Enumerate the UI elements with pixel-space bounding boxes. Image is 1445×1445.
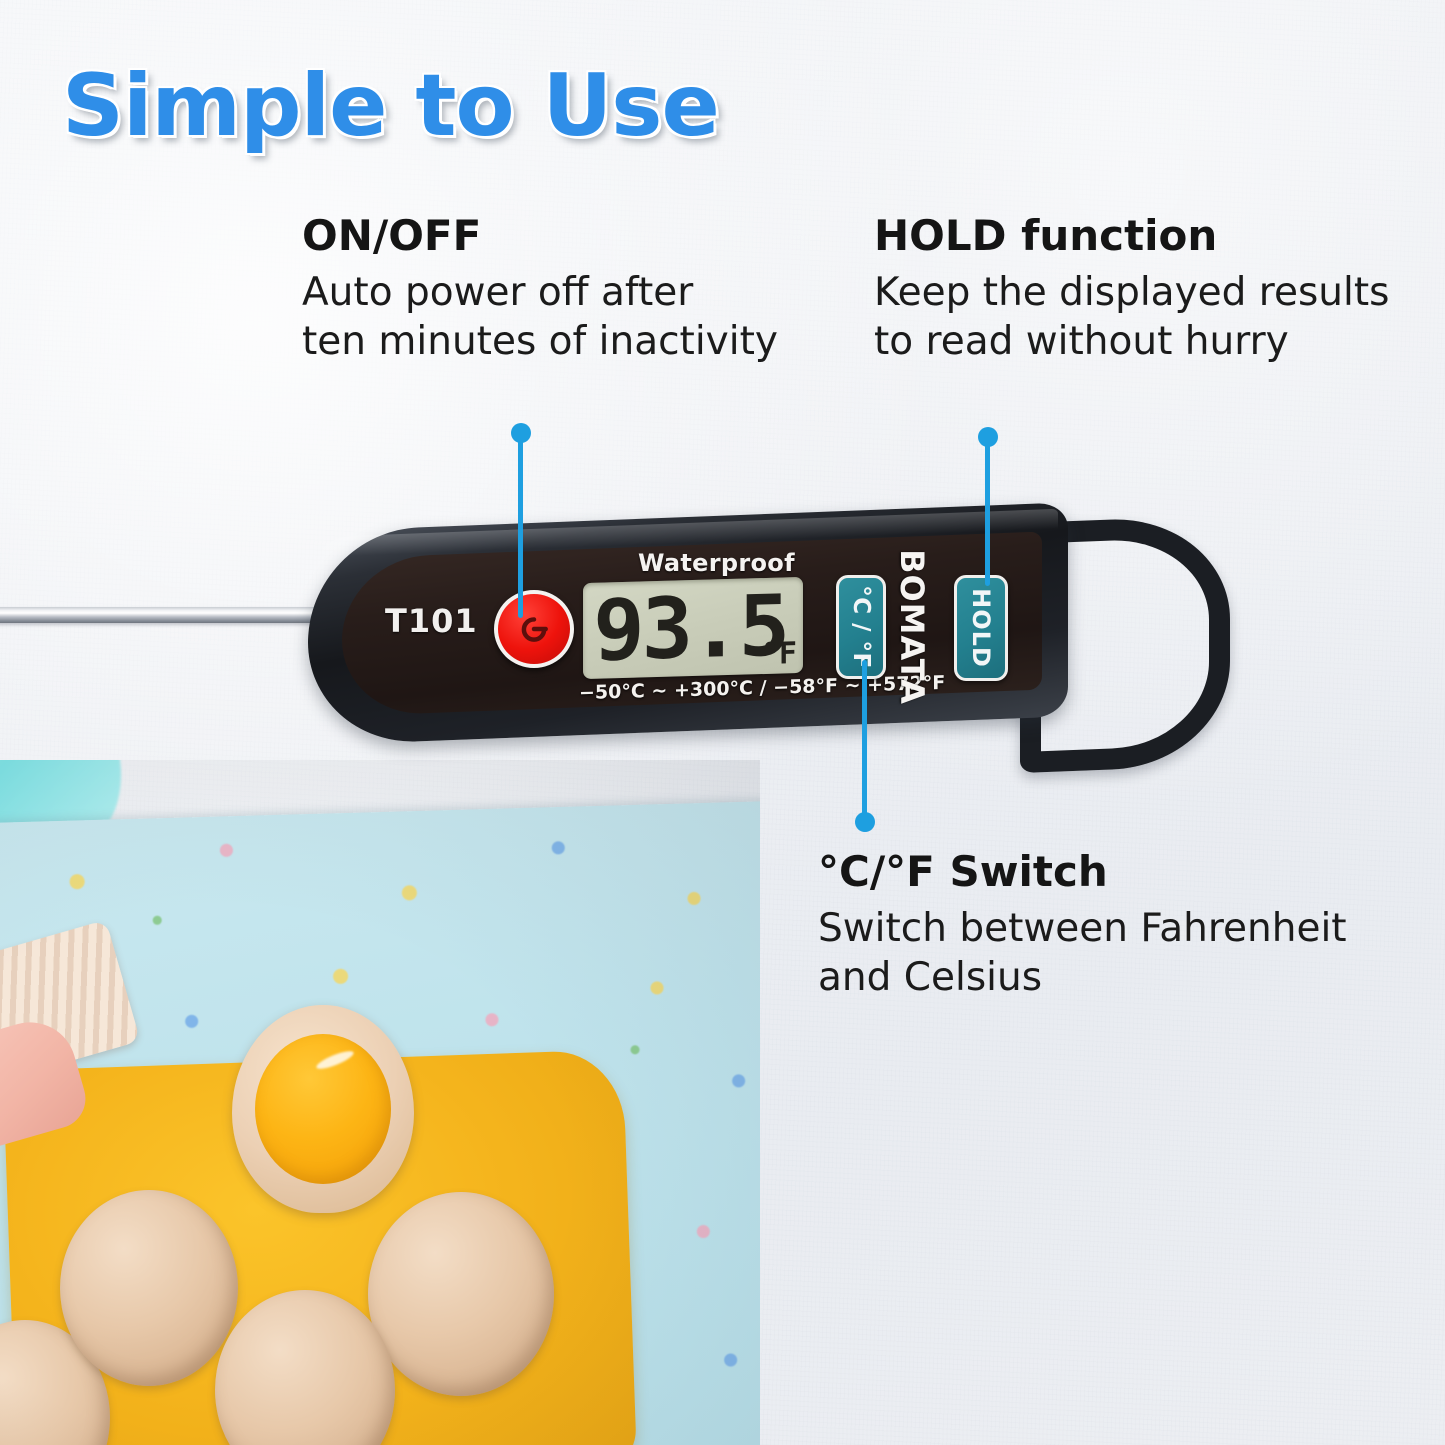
callout-cf-switch: °C/°F Switch Switch between Fahrenheit a… bbox=[818, 850, 1347, 1003]
connector-dot-cf-switch bbox=[855, 812, 875, 832]
connector-line-onoff bbox=[518, 432, 523, 618]
egg bbox=[368, 1192, 554, 1396]
probe-shaft bbox=[0, 607, 342, 623]
connector-line-cf-switch bbox=[862, 660, 867, 822]
hold-button-label: HOLD bbox=[967, 588, 995, 668]
brand-logo: BOMATA bbox=[882, 557, 942, 697]
lcd-display: 93.5 °F bbox=[583, 577, 803, 679]
lcd-temperature-value: 93.5 bbox=[593, 577, 787, 679]
celsius-fahrenheit-button[interactable]: °C / °F bbox=[836, 575, 886, 679]
lcd-temperature-unit: °F bbox=[761, 639, 797, 670]
callout-hold: HOLD function Keep the displayed results… bbox=[874, 214, 1389, 367]
callout-onoff-body-line2: ten minutes of inactivity bbox=[302, 317, 778, 367]
thermometer-device: T101 Waterproof 93.5 °F −50°C ~ +300°C /… bbox=[0, 505, 1200, 750]
waterproof-label: Waterproof bbox=[638, 549, 795, 577]
callout-hold-body: Keep the displayed results to read witho… bbox=[874, 268, 1389, 367]
callout-cf-switch-body-line1: Switch between Fahrenheit bbox=[818, 904, 1347, 954]
callout-cf-switch-body: Switch between Fahrenheit and Celsius bbox=[818, 904, 1347, 1003]
callout-onoff-body: Auto power off after ten minutes of inac… bbox=[302, 268, 778, 367]
callout-cf-switch-body-line2: and Celsius bbox=[818, 953, 1347, 1003]
brand-logo-text: BOMATA bbox=[893, 549, 931, 705]
callout-hold-body-line2: to read without hurry bbox=[874, 317, 1389, 367]
hold-button[interactable]: HOLD bbox=[954, 575, 1008, 681]
egg-yolk bbox=[255, 1034, 391, 1184]
infographic-page: Simple to Use ON/OFF Auto power off afte… bbox=[0, 0, 1445, 1445]
connector-dot-onoff bbox=[511, 423, 531, 443]
egg bbox=[60, 1190, 238, 1386]
callout-onoff: ON/OFF Auto power off after ten minutes … bbox=[302, 214, 778, 367]
callout-onoff-body-line1: Auto power off after bbox=[302, 268, 778, 318]
cracked-egg bbox=[232, 1005, 414, 1213]
page-title: Simple to Use bbox=[62, 56, 719, 156]
power-button[interactable] bbox=[494, 590, 574, 668]
connector-dot-hold bbox=[978, 427, 998, 447]
model-label: T101 bbox=[385, 602, 478, 640]
connector-line-hold bbox=[985, 436, 990, 586]
callout-onoff-title: ON/OFF bbox=[302, 214, 778, 259]
callout-hold-body-line1: Keep the displayed results bbox=[874, 268, 1389, 318]
callout-hold-title: HOLD function bbox=[874, 214, 1389, 259]
celsius-fahrenheit-button-label: °C / °F bbox=[848, 585, 874, 669]
callout-cf-switch-title: °C/°F Switch bbox=[818, 850, 1347, 895]
kitchen-photo bbox=[0, 760, 760, 1445]
